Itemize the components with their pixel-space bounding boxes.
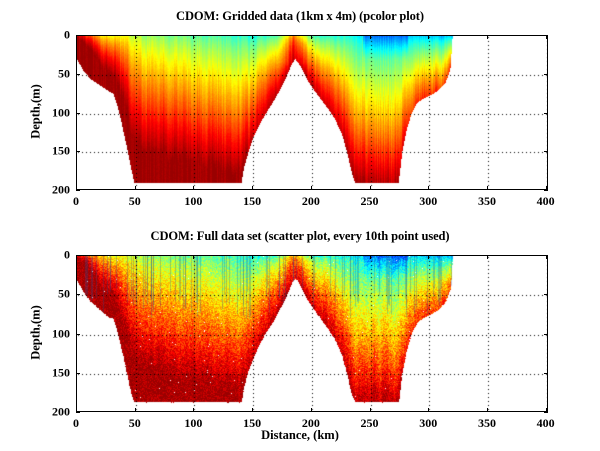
x-tick (428, 186, 429, 190)
x-tick (252, 255, 253, 259)
y-tick (76, 151, 80, 152)
x-tick (135, 186, 136, 190)
axes-gridded (76, 35, 548, 190)
y-tick-label: 100 (36, 326, 70, 341)
x-tick (487, 408, 488, 412)
x-tick (428, 408, 429, 412)
x-tick (370, 255, 371, 259)
x-tick (370, 35, 371, 39)
x-tick (487, 35, 488, 39)
x-tick (311, 186, 312, 190)
x-tick (428, 35, 429, 39)
x-tick (370, 186, 371, 190)
y-tick (544, 334, 548, 335)
x-tick (487, 255, 488, 259)
y-tick-label: 150 (36, 144, 70, 159)
x-tick (135, 408, 136, 412)
y-tick (76, 334, 80, 335)
y-tick (76, 294, 80, 295)
plot-title-gridded: CDOM: Gridded data (1km x 4m) (pcolor pl… (0, 9, 600, 24)
x-tick-label: 300 (419, 194, 437, 209)
y-tick (544, 35, 548, 36)
x-tick (193, 408, 194, 412)
y-tick (76, 255, 80, 256)
scatter-canvas-fullset (77, 256, 548, 412)
x-tick (311, 408, 312, 412)
y-tick (544, 151, 548, 152)
heatmap-canvas-gridded (77, 36, 548, 190)
x-tick-label: 100 (184, 194, 202, 209)
y-tick (544, 373, 548, 374)
y-tick (76, 74, 80, 75)
x-tick (252, 186, 253, 190)
x-tick (252, 408, 253, 412)
y-tick (544, 294, 548, 295)
y-tick-label: 100 (36, 105, 70, 120)
x-tick (135, 255, 136, 259)
x-axis-label: Distance, (km) (0, 428, 600, 443)
y-tick-label: 0 (36, 28, 70, 43)
y-tick (76, 412, 80, 413)
y-tick (76, 190, 80, 191)
figure-root: CDOM: Gridded data (1km x 4m) (pcolor pl… (0, 0, 600, 451)
x-tick (193, 186, 194, 190)
y-tick-label: 0 (36, 248, 70, 263)
x-tick (428, 255, 429, 259)
plot-title-fullset: CDOM: Full data set (scatter plot, every… (0, 229, 600, 244)
y-tick-label: 200 (36, 405, 70, 420)
y-tick-label: 50 (36, 287, 70, 302)
x-tick-label: 150 (243, 194, 261, 209)
x-tick-label: 50 (129, 194, 141, 209)
x-tick-label: 0 (73, 194, 79, 209)
y-tick-label: 200 (36, 183, 70, 198)
x-tick (311, 255, 312, 259)
y-tick (544, 74, 548, 75)
x-tick (487, 186, 488, 190)
axes-fullset (76, 255, 548, 412)
y-tick (76, 113, 80, 114)
x-tick (193, 255, 194, 259)
x-tick-label: 400 (537, 194, 555, 209)
y-tick (544, 190, 548, 191)
y-tick (544, 113, 548, 114)
x-tick (370, 408, 371, 412)
x-tick-label: 250 (361, 194, 379, 209)
y-tick-label: 50 (36, 66, 70, 81)
x-tick (135, 35, 136, 39)
x-tick-label: 350 (478, 194, 496, 209)
y-tick (76, 373, 80, 374)
x-tick (252, 35, 253, 39)
panel-fullset: CDOM: Full data set (scatter plot, every… (0, 220, 600, 451)
panel-gridded: CDOM: Gridded data (1km x 4m) (pcolor pl… (0, 0, 600, 220)
x-tick-label: 200 (302, 194, 320, 209)
y-tick (76, 35, 80, 36)
y-tick (544, 412, 548, 413)
y-tick (544, 255, 548, 256)
x-tick (193, 35, 194, 39)
x-tick (311, 35, 312, 39)
y-tick-label: 150 (36, 365, 70, 380)
